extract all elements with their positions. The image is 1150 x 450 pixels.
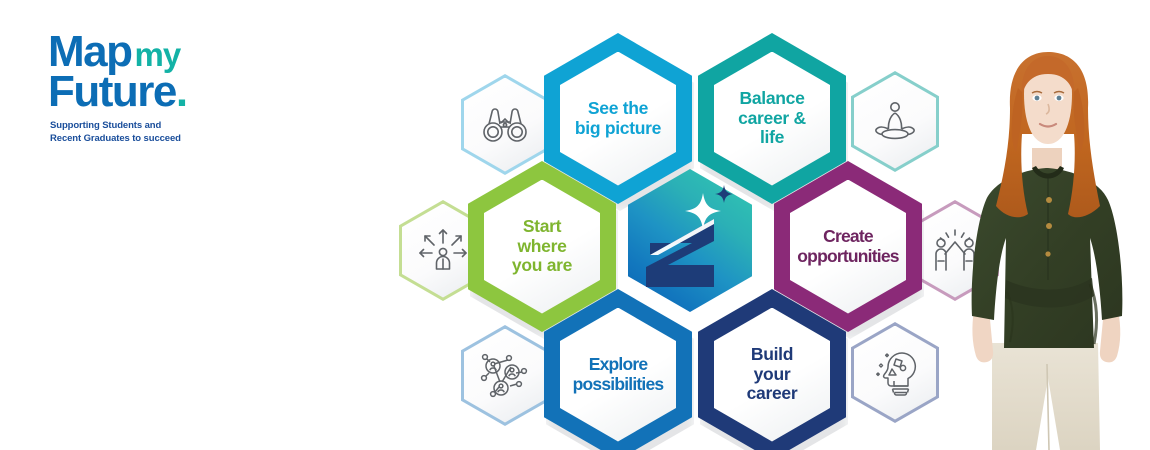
brand-tagline: Supporting Students and Recent Graduates… bbox=[50, 120, 181, 145]
tagline-line-1: Supporting Students and bbox=[50, 120, 181, 133]
hex-explore-possibilities-label: Explore possibilities bbox=[571, 355, 666, 395]
label-line: career & bbox=[738, 109, 806, 129]
hex-start-where-you-are-label: Start where you are bbox=[510, 217, 574, 276]
label-line: See the bbox=[575, 99, 661, 119]
hex-build-your-career-label: Build your career bbox=[745, 345, 800, 404]
hex-see-the-big-picture-inner: See the big picture bbox=[560, 52, 676, 186]
hex-start-where-you-are-inner: Start where you are bbox=[484, 180, 600, 314]
map-my-future-logo-mark bbox=[628, 169, 752, 312]
label-line: your bbox=[747, 365, 798, 385]
logo-line-2: Future. bbox=[48, 72, 298, 112]
student-photo-illustration bbox=[948, 48, 1148, 450]
sparkle-large-icon bbox=[685, 193, 721, 229]
tagline-line-2: Recent Graduates to succeed bbox=[50, 133, 181, 146]
hex-balance-career-and-life-label: Balance career & life bbox=[736, 89, 808, 148]
label-line: Balance bbox=[738, 89, 806, 109]
directions-icon bbox=[417, 227, 469, 275]
student-photo bbox=[948, 48, 1148, 450]
icon-hex-binoculars-inner bbox=[464, 78, 546, 172]
lightbulb-head-icon bbox=[870, 348, 920, 398]
logo-word-future: Future bbox=[48, 67, 176, 116]
icon-hex-binoculars bbox=[461, 74, 549, 175]
label-line: career bbox=[747, 384, 798, 404]
binoculars-icon bbox=[480, 105, 530, 145]
label-line: Explore bbox=[573, 355, 664, 375]
hex-build-your-career-inner: Build your career bbox=[714, 308, 830, 442]
icon-hex-network-inner bbox=[464, 329, 546, 423]
brand-logo[interactable]: Mapmy Future. bbox=[48, 32, 298, 113]
icon-hex-network bbox=[461, 325, 549, 426]
banner-stage: Mapmy Future. Supporting Students and Re… bbox=[0, 0, 1150, 450]
people-network-icon bbox=[479, 351, 531, 401]
label-line: you are bbox=[512, 256, 572, 276]
logo-line-1: Mapmy bbox=[48, 32, 298, 72]
meditation-icon bbox=[871, 100, 919, 144]
hex-balance-career-and-life-inner: Balance career & life bbox=[714, 52, 830, 186]
hex-see-the-big-picture-label: See the big picture bbox=[573, 99, 663, 139]
center-logo-hexagon[interactable] bbox=[628, 169, 752, 312]
hex-create-opportunities-label: Create opportunities bbox=[795, 227, 900, 267]
sparkle-small-icon bbox=[715, 185, 733, 203]
icon-hex-idea-inner bbox=[854, 326, 936, 420]
label-line: big picture bbox=[575, 119, 661, 139]
label-line: opportunities bbox=[797, 247, 898, 267]
label-line: life bbox=[738, 128, 806, 148]
icon-hex-meditation-inner bbox=[854, 75, 936, 169]
label-line: where bbox=[512, 237, 572, 257]
icon-hex-idea bbox=[851, 322, 939, 423]
icon-hex-meditation bbox=[851, 71, 939, 172]
label-line: Create bbox=[797, 227, 898, 247]
logo-dot: . bbox=[176, 67, 187, 116]
label-line: possibilities bbox=[573, 375, 664, 395]
hex-explore-possibilities-inner: Explore possibilities bbox=[560, 308, 676, 442]
hex-create-opportunities-inner: Create opportunities bbox=[790, 180, 906, 314]
label-line: Build bbox=[747, 345, 798, 365]
label-line: Start bbox=[512, 217, 572, 237]
